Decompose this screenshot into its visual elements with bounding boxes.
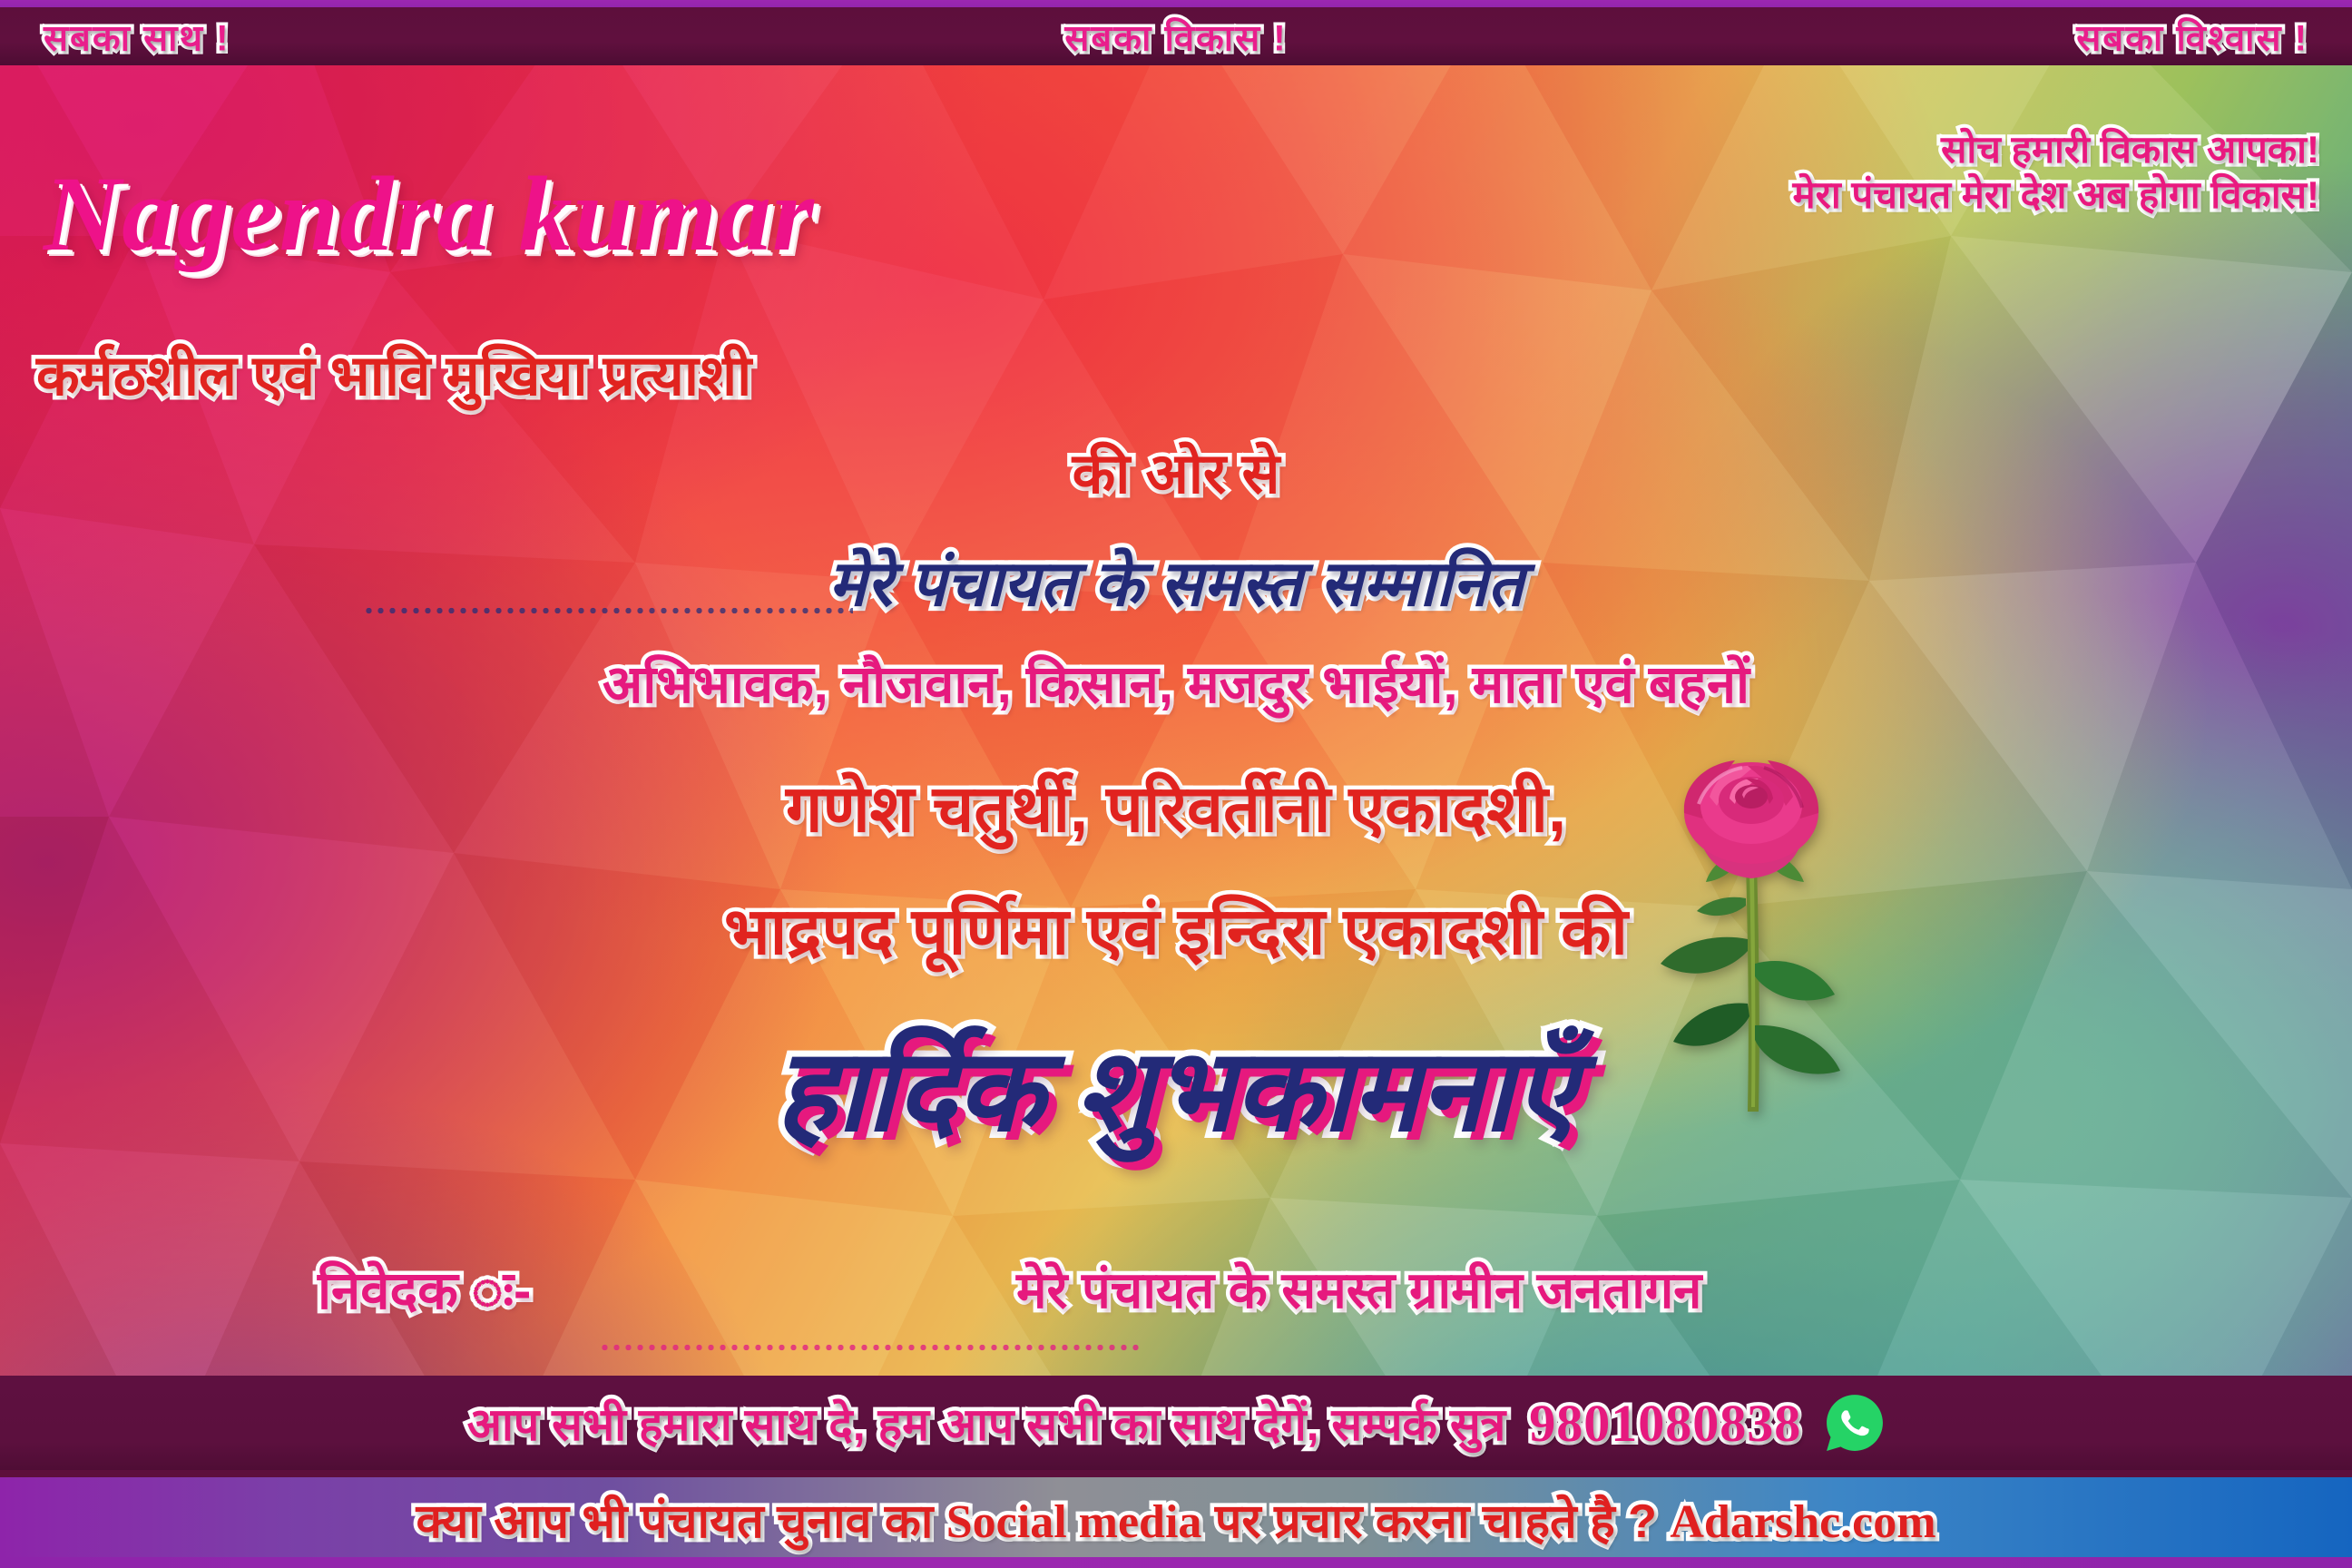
requester-label: निवेदक ः-: [318, 1252, 531, 1324]
corner-slogan-block: सोच हमारी विकास आपका! मेरा पंचायत मेरा द…: [1793, 127, 2319, 217]
from-label: की ओर से: [1073, 434, 1280, 510]
promo-footer-bar: क्या आप भी पंचायत चुनाव का Social media …: [0, 1470, 2352, 1568]
whatsapp-icon[interactable]: [1825, 1393, 1885, 1453]
top-slogan-bar: सबका साथ ! सबका विकास ! सबका विश्वास !: [0, 0, 2352, 65]
slogan-sabka-vishwas: सबका विश्वास !: [2076, 12, 2308, 62]
slogan-sabka-saath: सबका साथ !: [44, 12, 230, 62]
support-appeal-text: आप सभी हमारा साथ दे, हम आप सभी का साथ दे…: [467, 1392, 1505, 1454]
respected-line: मेरे पंचायत के समस्त सम्मानित: [828, 537, 1524, 624]
promo-text: क्या आप भी पंचायत चुनाव का Social media …: [416, 1487, 1935, 1552]
audience-line: अभिभावक, नौजवान, किसान, मजदुर भाईयों, मा…: [603, 646, 1749, 718]
candidate-name: Nagendra kumar: [44, 152, 815, 276]
contact-phone-number[interactable]: 9801080838: [1529, 1393, 1801, 1454]
corner-slogan-line-1: सोच हमारी विकास आपका!: [1793, 127, 2319, 172]
slogan-sabka-vikas: सबका विकास !: [1064, 12, 1287, 62]
greeting-poster: सबका साथ ! सबका विकास ! सबका विश्वास ! स…: [0, 0, 2352, 1568]
promo-hindi-part-2: पर प्रचार करना चाहते है ?: [1201, 1495, 1670, 1548]
top-slogan-bar-inner: सबका साथ ! सबका विकास ! सबका विश्वास !: [0, 7, 2352, 65]
dotted-divider-bottom: [599, 1343, 1143, 1352]
requester-value: मेरे पंचायत के समस्त ग्रामीन जनतागन: [1016, 1254, 1701, 1323]
candidate-role: कर्मठशील एवं भावि मुखिया प्रत्याशी: [36, 336, 751, 412]
festival-line-2: भाद्रपद पूर्णिमा एवं इन्दिरा एकादशी की: [724, 885, 1628, 974]
festival-line-1: गणेश चतुर्थी, परिवर्तीनी एकादशी,: [786, 762, 1566, 851]
promo-website-link[interactable]: Adarshc.com: [1670, 1496, 1935, 1548]
greeting-headline: हार्दिक शुभकामनाएँ: [776, 1007, 1576, 1163]
contact-bar: आप सभी हमारा साथ दे, हम आप सभी का साथ दे…: [0, 1376, 2352, 1470]
corner-slogan-line-2: मेरा पंचायत मेरा देश अब होगा विकास!: [1793, 172, 2319, 218]
promo-social-media: Social media: [946, 1496, 1202, 1548]
dotted-divider-top: [363, 606, 853, 615]
poster-content: Nagendra kumar कर्मठशील एवं भावि मुखिया …: [0, 0, 2352, 1568]
promo-hindi-part-1: क्या आप भी पंचायत चुनाव का: [416, 1495, 946, 1548]
